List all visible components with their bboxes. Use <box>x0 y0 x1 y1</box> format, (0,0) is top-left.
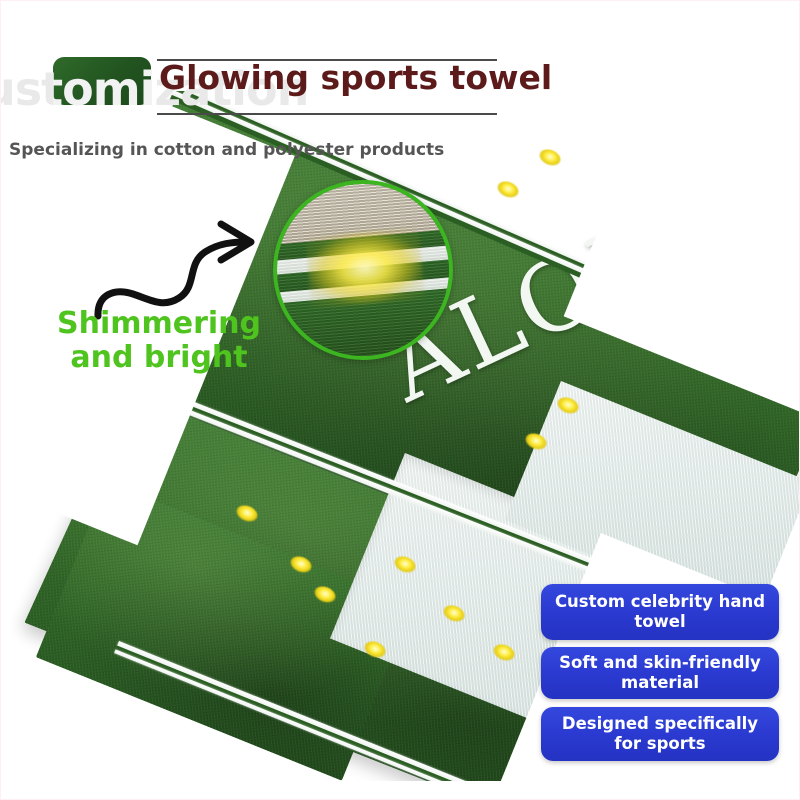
led-glow-dot <box>537 146 563 168</box>
title-rule-bottom <box>157 113 497 115</box>
detail-led-glow <box>305 227 424 309</box>
feature-badge[interactable]: Designed specifically for sports <box>541 707 779 761</box>
page-subtitle: Specializing in cotton and polyester pro… <box>9 140 444 160</box>
feature-badge[interactable]: Custom celebrity hand towel <box>541 584 779 640</box>
zoom-detail-circle <box>273 180 453 360</box>
badge-word-text: ustomization <box>53 62 151 110</box>
callout-line-1: Shimmering <box>43 307 275 341</box>
product-promo-image: ALOE <box>0 0 800 800</box>
callout-text: Shimmering and bright <box>43 307 275 375</box>
feature-badge[interactable]: Soft and skin-friendly material <box>541 647 779 699</box>
led-glow-dot <box>495 178 521 200</box>
callout-line-2: and bright <box>43 341 275 375</box>
badge-word-overlay: ustomization <box>53 62 151 110</box>
page-title: Glowing sports towel <box>159 58 552 97</box>
